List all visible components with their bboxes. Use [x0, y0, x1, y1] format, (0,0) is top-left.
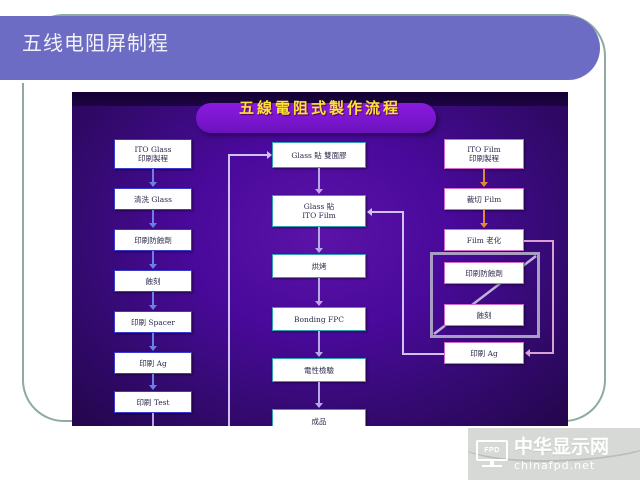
node-right-etch: 蝕刻 — [444, 304, 524, 326]
arrowhead-left-4 — [149, 305, 157, 310]
arrowhead-center-1 — [315, 189, 323, 194]
node-left-print-ag: 印刷 Ag — [114, 352, 192, 374]
node-text-line1: 印刷 Ag — [139, 359, 167, 368]
node-text-line1: 電性檢驗 — [304, 366, 334, 375]
monitor-screen-icon: FPD — [476, 440, 508, 461]
node-left-print-spacer: 印刷 Spacer — [114, 311, 192, 333]
node-text-line2: ITO Film — [302, 211, 336, 220]
connector-left-to-center-down — [152, 413, 154, 426]
process-flow-diagram: 五線電阻式製作流程 ITO Glass 印刷製程 清洗 Glass 印刷防蝕劑 … — [72, 92, 568, 426]
page-title: 五线电阻屏制程 — [22, 32, 169, 56]
connector-right-to-center-up — [402, 211, 404, 354]
node-center-glass-ito-film: Glass 貼 ITO Film — [272, 195, 366, 227]
slide-title-underline — [0, 80, 574, 83]
connector-right-to-center-out — [402, 353, 444, 355]
arrowhead-right-2 — [480, 223, 488, 228]
connector-right-2 — [483, 210, 485, 224]
node-text-line1: 印刷 Test — [136, 398, 169, 407]
node-text-line1: 印刷防蝕劑 — [465, 269, 503, 278]
node-right-cut-film: 裁切 Film — [444, 188, 524, 210]
connector-left-3 — [152, 251, 154, 265]
monitor-icon: FPD — [476, 440, 508, 468]
node-text-line1: Bonding FPC — [294, 315, 344, 324]
arrowhead-right-1 — [480, 182, 488, 187]
node-text-line2: 印刷製程 — [134, 154, 171, 163]
node-text-line2: 印刷製程 — [467, 154, 501, 163]
slide-canvas: 五线电阻屏制程 五線電阻式製作流程 ITO Glass 印刷製程 清洗 Glas… — [0, 0, 640, 480]
node-right-ito-film-print: ITO Film 印刷製程 — [444, 139, 524, 169]
node-left-print-test: 印刷 Test — [114, 391, 192, 413]
node-text-line1: 清洗 Glass — [134, 195, 172, 204]
node-text-line1: 蝕刻 — [146, 277, 161, 286]
connector-right-bypass-in — [530, 352, 554, 354]
connector-left-1 — [152, 169, 154, 183]
arrowhead-center-2 — [315, 248, 323, 253]
arrowhead-center-5 — [315, 403, 323, 408]
connector-left-to-center-in — [228, 154, 268, 156]
node-right-film-aging: Film 老化 — [444, 229, 524, 251]
watermark-text-group: 中华显示网 chinafpd.net — [514, 438, 609, 471]
node-text-line1: Glass 貼 雙面膠 — [291, 151, 346, 160]
node-left-clean-glass: 清洗 Glass — [114, 188, 192, 210]
watermark-chinafpd: FPD 中华显示网 chinafpd.net — [468, 428, 640, 480]
diagram-banner-title: 五線電阻式製作流程 — [72, 97, 568, 118]
watermark-url: chinafpd.net — [514, 460, 609, 471]
watermark-brand-name: 中华显示网 — [514, 438, 609, 457]
connector-left-to-center-up — [228, 155, 230, 426]
node-center-bonding-fpc: Bonding FPC — [272, 307, 366, 331]
node-center-finished-product: 成品 — [272, 409, 366, 426]
node-center-electrical-test: 電性檢驗 — [272, 358, 366, 382]
arrowhead-center-3 — [315, 301, 323, 306]
fpd-label: FPD — [484, 447, 500, 454]
arrowhead-left-3 — [149, 264, 157, 269]
node-text-line1: Film 老化 — [467, 236, 502, 245]
node-text-line1: 烘烤 — [312, 262, 327, 271]
arrowhead-left-2 — [149, 223, 157, 228]
arrowhead-right-to-center — [367, 208, 372, 216]
connector-center-1 — [318, 168, 320, 190]
connector-left-5 — [152, 333, 154, 347]
connector-center-2 — [318, 227, 320, 249]
arrowhead-right-bypass — [525, 349, 530, 357]
node-text-line1: Glass 貼 — [302, 202, 336, 211]
connector-center-5 — [318, 382, 320, 404]
node-text-line1: 成品 — [312, 417, 327, 426]
connector-left-2 — [152, 210, 154, 224]
node-text-line1: ITO Film — [467, 145, 501, 154]
node-left-etch: 蝕刻 — [114, 270, 192, 292]
connector-right-to-center-in — [372, 211, 404, 213]
node-text-line1: 印刷 Spacer — [131, 318, 175, 327]
node-text-line1: 裁切 Film — [467, 195, 502, 204]
node-left-print-resist: 印刷防蝕劑 — [114, 229, 192, 251]
node-center-glass-tape: Glass 貼 雙面膠 — [272, 142, 366, 168]
node-left-ito-glass-print: ITO Glass 印刷製程 — [114, 139, 192, 169]
connector-center-3 — [318, 278, 320, 302]
node-text-line1: ITO Glass — [134, 145, 171, 154]
connector-right-bypass-out — [524, 240, 554, 242]
node-right-print-resist: 印刷防蝕劑 — [444, 262, 524, 284]
connector-right-bypass-down — [552, 240, 554, 354]
arrowhead-left-6 — [149, 385, 157, 390]
connector-left-4 — [152, 292, 154, 306]
node-right-print-ag: 印刷 Ag — [444, 342, 524, 364]
arrowhead-center-4 — [315, 352, 323, 357]
node-text-line1: 印刷 Ag — [470, 349, 498, 358]
arrowhead-left-1 — [149, 182, 157, 187]
connector-right-1 — [483, 169, 485, 183]
monitor-base-icon — [482, 465, 502, 467]
node-text-line1: 印刷防蝕劑 — [134, 236, 172, 245]
arrowhead-left-5 — [149, 346, 157, 351]
connector-center-4 — [318, 331, 320, 353]
node-text-line1: 蝕刻 — [477, 311, 492, 320]
node-center-bake: 烘烤 — [272, 254, 366, 278]
